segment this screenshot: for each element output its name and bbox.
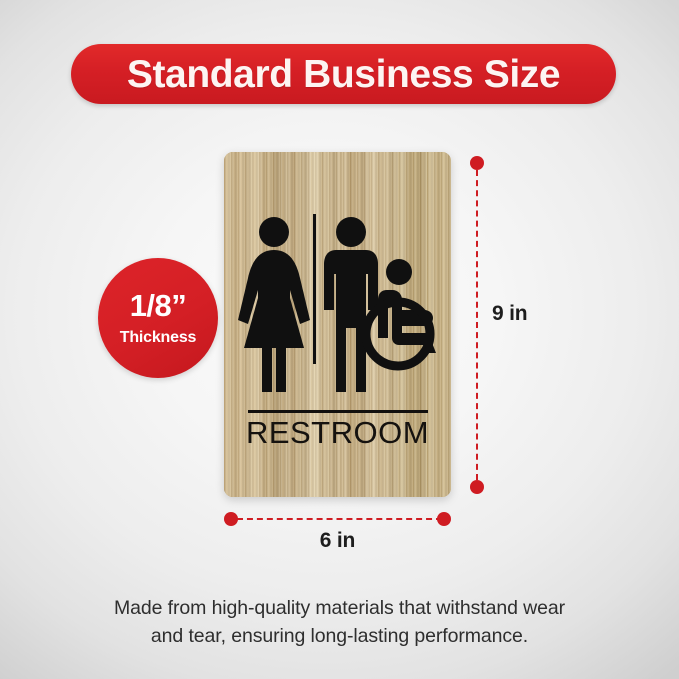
height-dimension-line	[476, 170, 478, 480]
width-dimension-line	[237, 518, 442, 520]
title-banner: Standard Business Size	[71, 44, 616, 104]
caption-line-2: and tear, ensuring long-lasting performa…	[60, 622, 619, 650]
width-dimension-dot-right	[437, 512, 451, 526]
product-infographic: Standard Business Size 1/8” Thickness	[0, 0, 679, 679]
page-title: Standard Business Size	[127, 55, 560, 94]
width-dimension-label: 6 in	[224, 529, 451, 553]
height-dimension-label: 9 in	[492, 302, 527, 326]
height-dimension-dot-bottom	[470, 480, 484, 494]
caption: Made from high-quality materials that wi…	[60, 594, 619, 651]
thickness-badge: 1/8” Thickness	[98, 258, 218, 378]
caption-line-1: Made from high-quality materials that wi…	[60, 594, 619, 622]
restroom-sign: RESTROOM	[224, 152, 451, 497]
width-dimension-dot-left	[224, 512, 238, 526]
height-dimension-dot-top	[470, 156, 484, 170]
men-pictogram	[324, 217, 378, 392]
thickness-value: 1/8”	[130, 290, 187, 321]
restroom-label: RESTROOM	[224, 416, 451, 450]
divider-line	[313, 214, 316, 364]
women-pictogram	[238, 217, 310, 392]
restroom-divider-rule	[248, 410, 428, 413]
thickness-label: Thickness	[120, 330, 196, 346]
